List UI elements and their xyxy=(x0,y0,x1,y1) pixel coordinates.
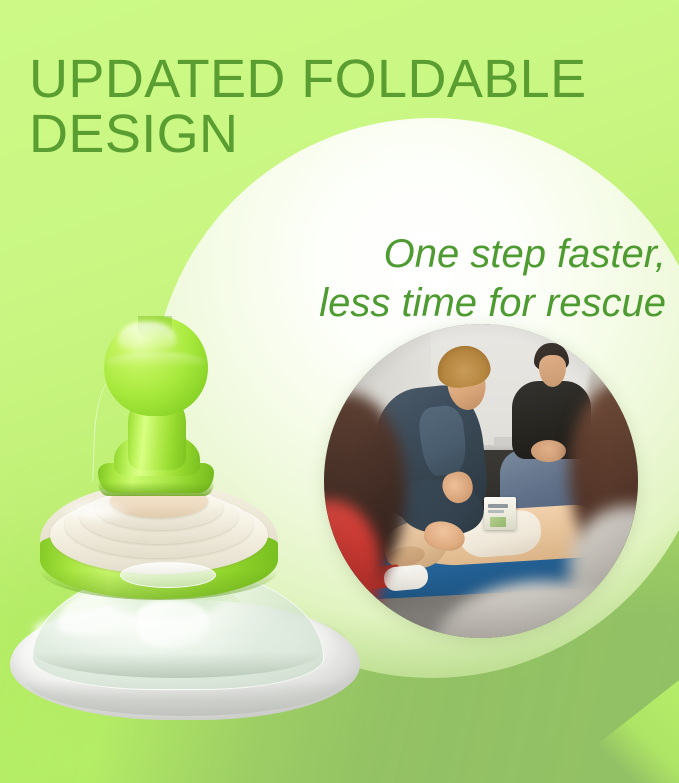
product-green-base-plate-edge xyxy=(98,482,214,496)
product-dome-collar xyxy=(120,562,216,588)
product-disc-highlight xyxy=(58,498,132,524)
product-marketing-banner: UPDATED FOLDABLE DESIGN One step faster,… xyxy=(0,0,679,783)
product-dome-gloss-wedge xyxy=(136,600,210,648)
headline: UPDATED FOLDABLE DESIGN xyxy=(29,52,669,162)
photo-vignette xyxy=(324,324,638,638)
product-handle-knob-gloss xyxy=(118,322,176,352)
cpr-training-photo xyxy=(324,324,638,638)
cpr-assist-device xyxy=(10,300,370,750)
product-handle-knob-rim xyxy=(106,352,206,374)
photo-scene xyxy=(324,324,638,638)
